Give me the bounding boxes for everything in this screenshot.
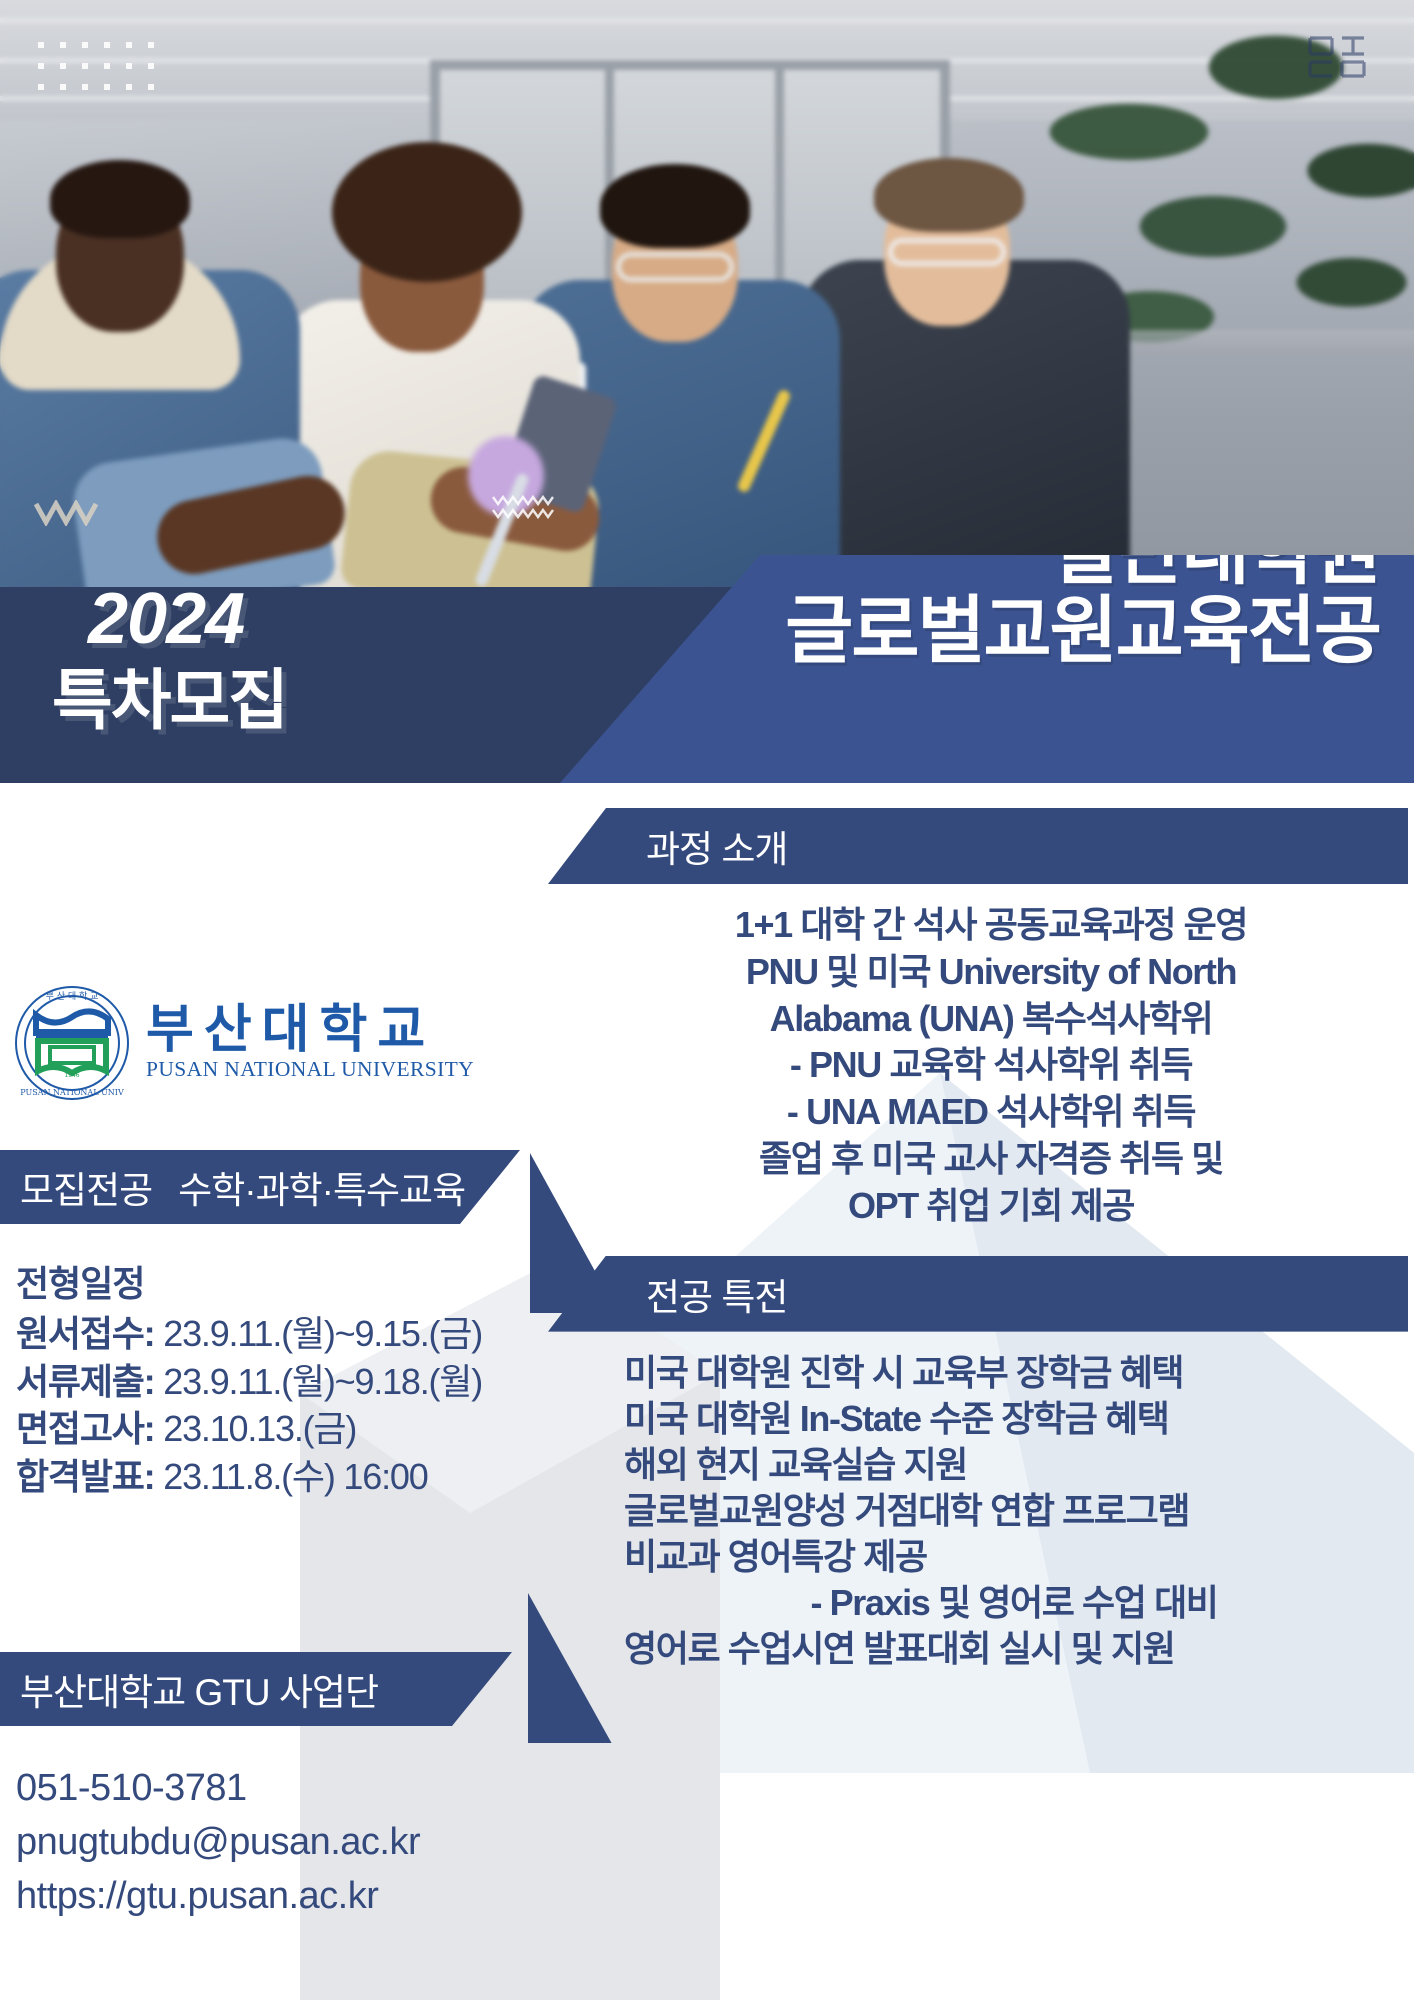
- schedule-row-value: 23.9.11.(월)~9.18.(월): [163, 1361, 482, 1402]
- benefit-line: 해외 현지 교육실습 지원: [624, 1442, 1404, 1488]
- title-line-2: 일반대학원: [785, 555, 1380, 592]
- contact-ribbon: 부산대학교 GTU 사업단: [0, 1652, 512, 1726]
- schedule-row-value: 23.11.8.(수) 16:00: [163, 1456, 427, 1497]
- university-logo: 1946 부 산 대 학 교 PUSAN NATIONAL UNIV 부산대학교…: [14, 985, 474, 1101]
- section-heading-major-benefits: 전공 특전: [548, 1256, 1408, 1332]
- benefit-line: - Praxis 및 영어로 수업 대비: [624, 1580, 1404, 1626]
- contact-website[interactable]: https://gtu.pusan.ac.kr: [16, 1870, 420, 1924]
- title-band: 부산대학교 일반대학원 글로벌교원교육전공 2024 특차모집: [0, 555, 1414, 783]
- pnu-small-mark-icon: [1304, 30, 1374, 82]
- major-ribbon: 모집전공 수학·과학·특수교육: [0, 1150, 520, 1224]
- contact-block: 051-510-3781 pnugtubdu@pusan.ac.kr https…: [16, 1762, 420, 1924]
- schedule-row-value: 23.9.11.(월)~9.15.(금): [163, 1313, 482, 1354]
- intro-line: OPT 취업 기회 제공: [578, 1183, 1404, 1230]
- schedule-row-label: 원서접수:: [16, 1313, 154, 1354]
- logo-korean-name: 부산대학교: [146, 1004, 474, 1057]
- zigzag-icon: [492, 492, 566, 520]
- schedule-row: 합격발표: 23.11.8.(수) 16:00: [16, 1453, 482, 1501]
- section-body-course-intro: 1+1 대학 간 석사 공동교육과정 운영 PNU 및 미국 Universit…: [548, 884, 1414, 1230]
- benefit-line: 미국 대학원 진학 시 교육부 장학금 혜택: [624, 1350, 1404, 1396]
- right-column: 과정 소개 1+1 대학 간 석사 공동교육과정 운영 PNU 및 미국 Uni…: [548, 790, 1414, 1672]
- benefit-line: 글로벌교원양성 거점대학 연합 프로그램: [624, 1488, 1404, 1534]
- intro-line: 1+1 대학 간 석사 공동교육과정 운영: [578, 902, 1404, 949]
- section-heading-text: 전공 특전: [646, 1267, 787, 1321]
- svg-text:부 산 대 학 교: 부 산 대 학 교: [46, 991, 99, 1002]
- section-body-major-benefits: 미국 대학원 진학 시 교육부 장학금 혜택 미국 대학원 In-State 수…: [548, 1332, 1414, 1673]
- admission-type-label: 특차모집: [52, 667, 287, 733]
- section-heading-course-intro: 과정 소개: [548, 808, 1408, 884]
- schedule-row-label: 서류제출:: [16, 1361, 154, 1402]
- schedule-row: 원서접수: 23.9.11.(월)~9.15.(금): [16, 1310, 482, 1358]
- benefit-line: 영어로 수업시연 발표대회 실시 및 지원: [624, 1626, 1404, 1672]
- intro-line: - UNA MAED 석사학위 취득: [578, 1089, 1404, 1136]
- intro-line: Alabama (UNA) 복수석사학위: [578, 996, 1404, 1043]
- benefit-line: 미국 대학원 In-State 수준 장학금 혜택: [624, 1396, 1404, 1442]
- svg-text:PUSAN NATIONAL UNIV: PUSAN NATIONAL UNIV: [20, 1088, 124, 1097]
- intro-line: PNU 및 미국 University of North: [578, 949, 1404, 996]
- schedule-heading: 전형일정: [16, 1255, 482, 1307]
- schedule-block: 전형일정 원서접수: 23.9.11.(월)~9.15.(금) 서류제출: 23…: [16, 1255, 482, 1500]
- schedule-row-value: 23.10.13.(금): [163, 1408, 356, 1449]
- major-label: 모집전공: [20, 1160, 152, 1214]
- year-label: 2024: [88, 583, 244, 655]
- pnu-seal-icon: 1946 부 산 대 학 교 PUSAN NATIONAL UNIV: [14, 985, 130, 1101]
- schedule-row-label: 합격발표:: [16, 1456, 154, 1497]
- logo-english-name: PUSAN NATIONAL UNIVERSITY: [146, 1057, 474, 1082]
- schedule-row: 면접고사: 23.10.13.(금): [16, 1405, 482, 1453]
- intro-line: 졸업 후 미국 교사 자격증 취득 및: [578, 1136, 1404, 1183]
- title-line-3: 글로벌교원교육전공: [785, 592, 1380, 670]
- zigzag-icon: [34, 500, 114, 526]
- poster-title: 부산대학교 일반대학원 글로벌교원교육전공: [785, 555, 1380, 670]
- contact-heading: 부산대학교 GTU 사업단: [20, 1662, 378, 1716]
- dot-grid-icon: [38, 42, 154, 90]
- svg-text:1946: 1946: [64, 1072, 79, 1079]
- hero-photo: [0, 0, 1414, 600]
- schedule-row: 서류제출: 23.9.11.(월)~9.18.(월): [16, 1358, 482, 1406]
- major-value: 수학·과학·특수교육: [178, 1160, 465, 1214]
- contact-phone[interactable]: 051-510-3781: [16, 1762, 420, 1816]
- contact-email[interactable]: pnugtubdu@pusan.ac.kr: [16, 1816, 420, 1870]
- intro-line: - PNU 교육학 석사학위 취득: [578, 1042, 1404, 1089]
- student-1: [0, 130, 400, 600]
- schedule-row-label: 면접고사:: [16, 1408, 154, 1449]
- section-heading-text: 과정 소개: [646, 819, 787, 873]
- benefit-line: 비교과 영어특강 제공: [624, 1534, 1404, 1580]
